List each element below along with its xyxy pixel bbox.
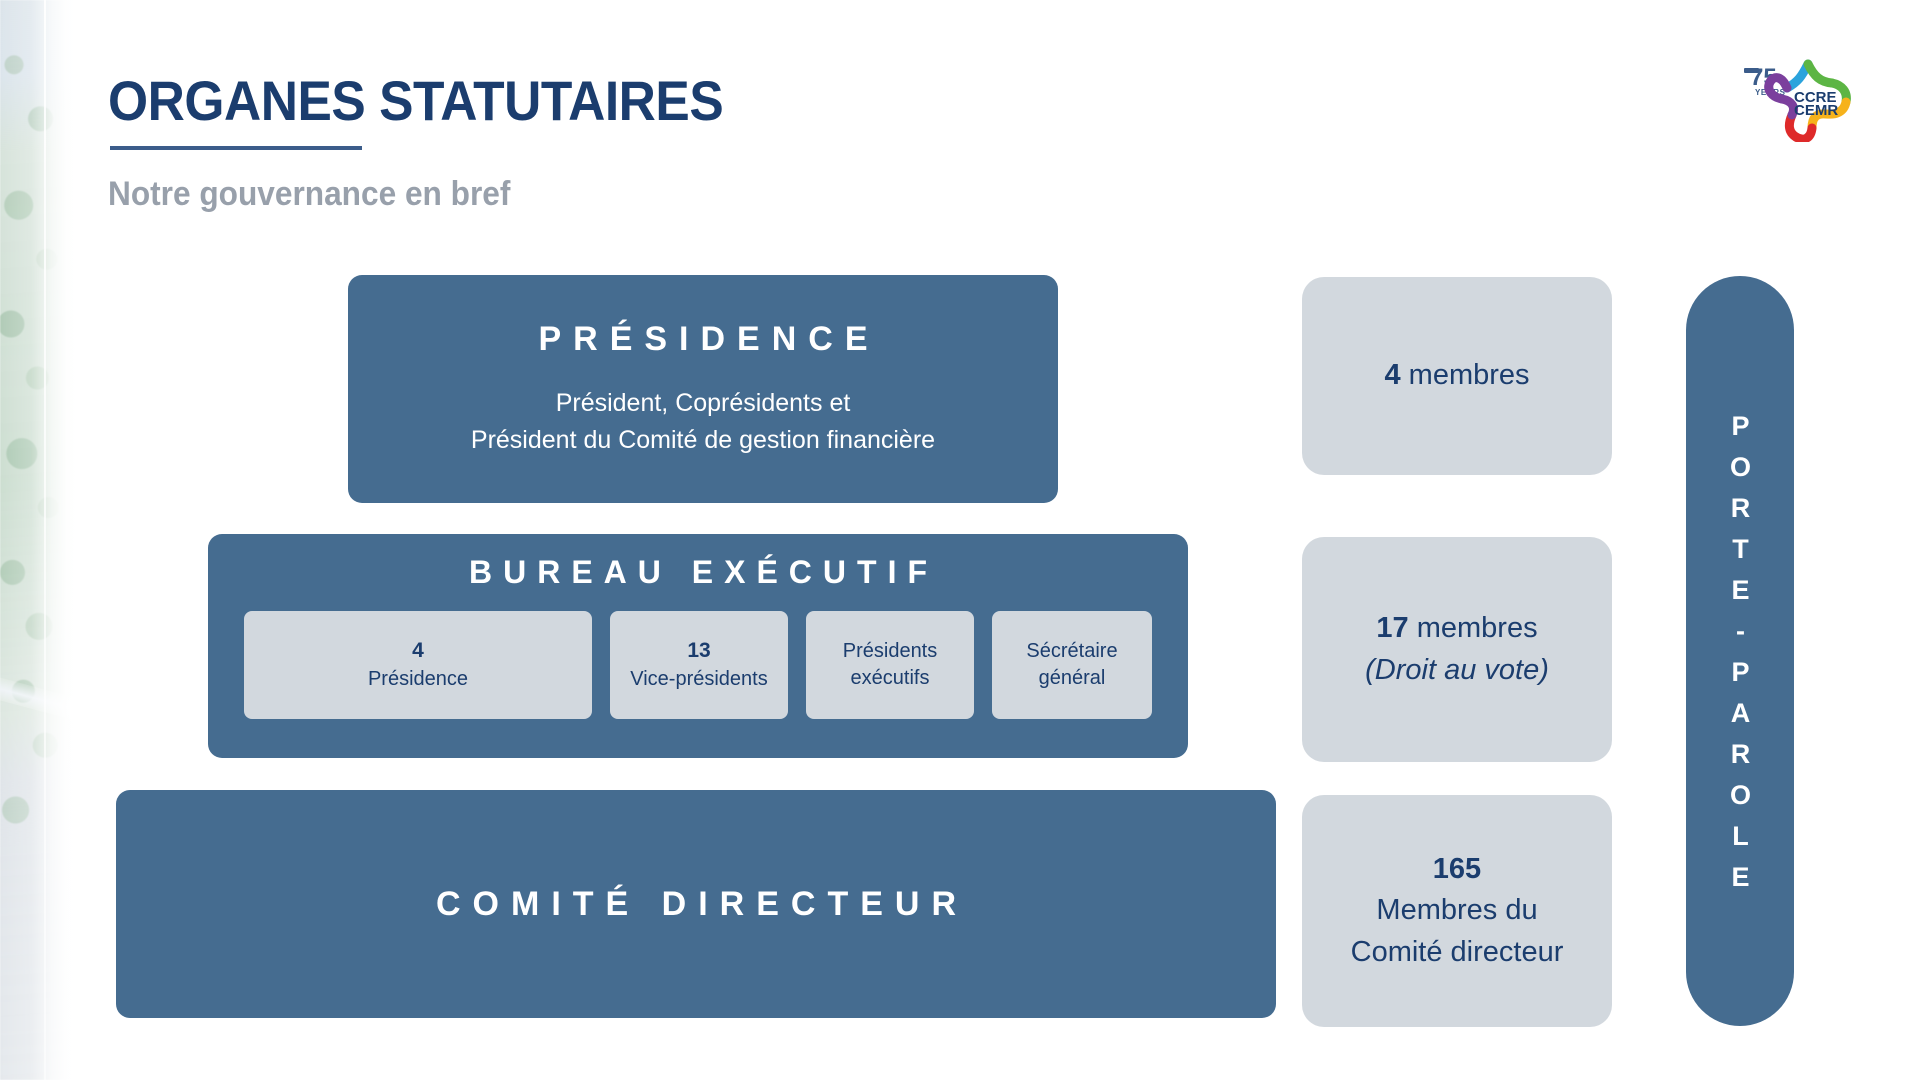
title-underline [110, 146, 362, 150]
stat-number: 4 [1384, 359, 1400, 391]
stat-line: 4 membres [1384, 355, 1529, 396]
stat-card-bureau-members: 17 membres (Droit au vote) [1302, 537, 1612, 762]
bureau-card-label-line1: Sécrétaire [1026, 638, 1117, 665]
org-box-bureau-executif: BUREAU EXÉCUTIF 4 Présidence 13 Vice-pré… [208, 534, 1188, 758]
slide-root: ORGANES STATUTAIRES Notre gouvernance en… [0, 0, 1920, 1080]
bureau-card-label-line1: Présidents [843, 638, 938, 665]
bureau-card-number: 13 [687, 637, 710, 665]
photo-fade-overlay [0, 0, 78, 1080]
stat-card-comite-members: 165 Membres du Comité directeur [1302, 795, 1612, 1027]
presidence-line-1: Président, Coprésidents et [471, 385, 935, 421]
page-title: ORGANES STATUTAIRES [108, 68, 723, 133]
bureau-card-label-line2: exécutifs [851, 665, 930, 692]
stat-label: membres [1401, 359, 1530, 391]
presidence-heading: PRÉSIDENCE [526, 320, 879, 359]
org-box-comite-directeur: COMITÉ DIRECTEUR [116, 790, 1276, 1018]
bureau-card-label: Présidence [368, 666, 468, 693]
left-decorative-photo-strip [0, 0, 78, 1080]
spokesperson-pill: PORTE-PAROLE [1686, 276, 1794, 1026]
spokesperson-label: PORTE-PAROLE [1725, 400, 1756, 903]
bureau-card-number: 4 [412, 637, 424, 665]
stat-number: 165 [1433, 853, 1481, 885]
presidence-line-2: Président du Comité de gestion financièr… [471, 422, 935, 458]
bureau-card-vice-presidents: 13 Vice-présidents [610, 611, 788, 719]
stat-line-2: Membres du [1376, 890, 1537, 931]
page-subtitle: Notre gouvernance en bref [108, 175, 510, 214]
svg-text:CEMR: CEMR [1794, 102, 1838, 119]
ccre-cemr-logo: 75 YEARS CCRE CEMR [1742, 52, 1870, 142]
bureau-heading: BUREAU EXÉCUTIF [458, 554, 938, 591]
stat-number: 17 [1376, 612, 1408, 644]
org-box-presidence: PRÉSIDENCE Président, Coprésidents et Pr… [348, 275, 1058, 503]
bureau-card-secretaire-general: Sécrétaire général [992, 611, 1152, 719]
stat-label: membres [1409, 612, 1538, 644]
logo-acronym: CCRE CEMR [1794, 89, 1838, 119]
bureau-card-label: Vice-présidents [630, 666, 767, 693]
comite-heading: COMITÉ DIRECTEUR [424, 885, 968, 924]
stat-note: (Droit au vote) [1365, 650, 1549, 691]
stat-line-3: Comité directeur [1351, 932, 1564, 973]
stat-line: 17 membres [1376, 608, 1537, 649]
stat-number-line: 165 [1433, 849, 1481, 890]
stat-card-presidence-members: 4 membres [1302, 277, 1612, 475]
bureau-card-label-line2: général [1039, 665, 1106, 692]
strip-divider [44, 0, 46, 1080]
bureau-card-presidents-executifs: Présidents exécutifs [806, 611, 974, 719]
bureau-card-presidence: 4 Présidence [244, 611, 592, 719]
bureau-card-list: 4 Présidence 13 Vice-présidents Présiden… [244, 611, 1152, 719]
